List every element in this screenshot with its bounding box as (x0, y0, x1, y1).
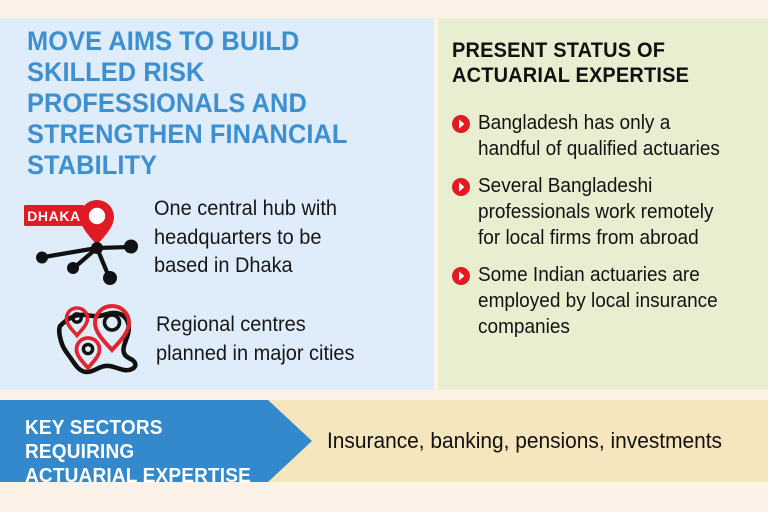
chevron-right-circle-icon (452, 115, 470, 133)
bottom-banner-value: Insurance, banking, pensions, investment… (327, 428, 726, 454)
list-item-regional-centres: Regional centres planned in major cities (50, 300, 365, 383)
bottom-banner-label: KEY SECTORS REQUIRING ACTUARIAL EXPERTIS… (25, 416, 272, 488)
infographic-root: MOVE AIMS TO BUILD SKILLED RISK PROFESSI… (0, 0, 768, 512)
dhaka-tag-label: DHAKA (27, 208, 81, 224)
page-title: MOVE AIMS TO BUILD SKILLED RISK PROFESSI… (27, 26, 394, 181)
chevron-right-circle-icon (452, 267, 470, 285)
right-panel-heading: PRESENT STATUS OF ACTUARIAL EXPERTISE (452, 38, 728, 88)
list-item-label: Several Bangladeshi professionals work r… (478, 173, 713, 251)
list-item-label: Bangladesh has only a handful of qualifi… (478, 110, 720, 162)
list-item: Bangladesh has only a handful of qualifi… (452, 110, 752, 162)
list-item: Some Indian actuaries are employed by lo… (452, 262, 752, 340)
list-item-central-hub: DHAKA One cen (22, 193, 347, 290)
list-item: Several Bangladeshi professionals work r… (452, 173, 752, 251)
list-item-label: Some Indian actuaries are employed by lo… (478, 262, 718, 340)
right-panel-bullet-list: Bangladesh has only a handful of qualifi… (452, 110, 752, 351)
dhaka-hub-network-icon: DHAKA (22, 193, 142, 290)
regional-map-pins-icon (50, 300, 142, 383)
chevron-right-circle-icon (452, 178, 470, 196)
list-item-central-hub-text: One central hub with headquarters to be … (154, 195, 337, 281)
list-item-regional-centres-text: Regional centres planned in major cities (156, 311, 355, 368)
